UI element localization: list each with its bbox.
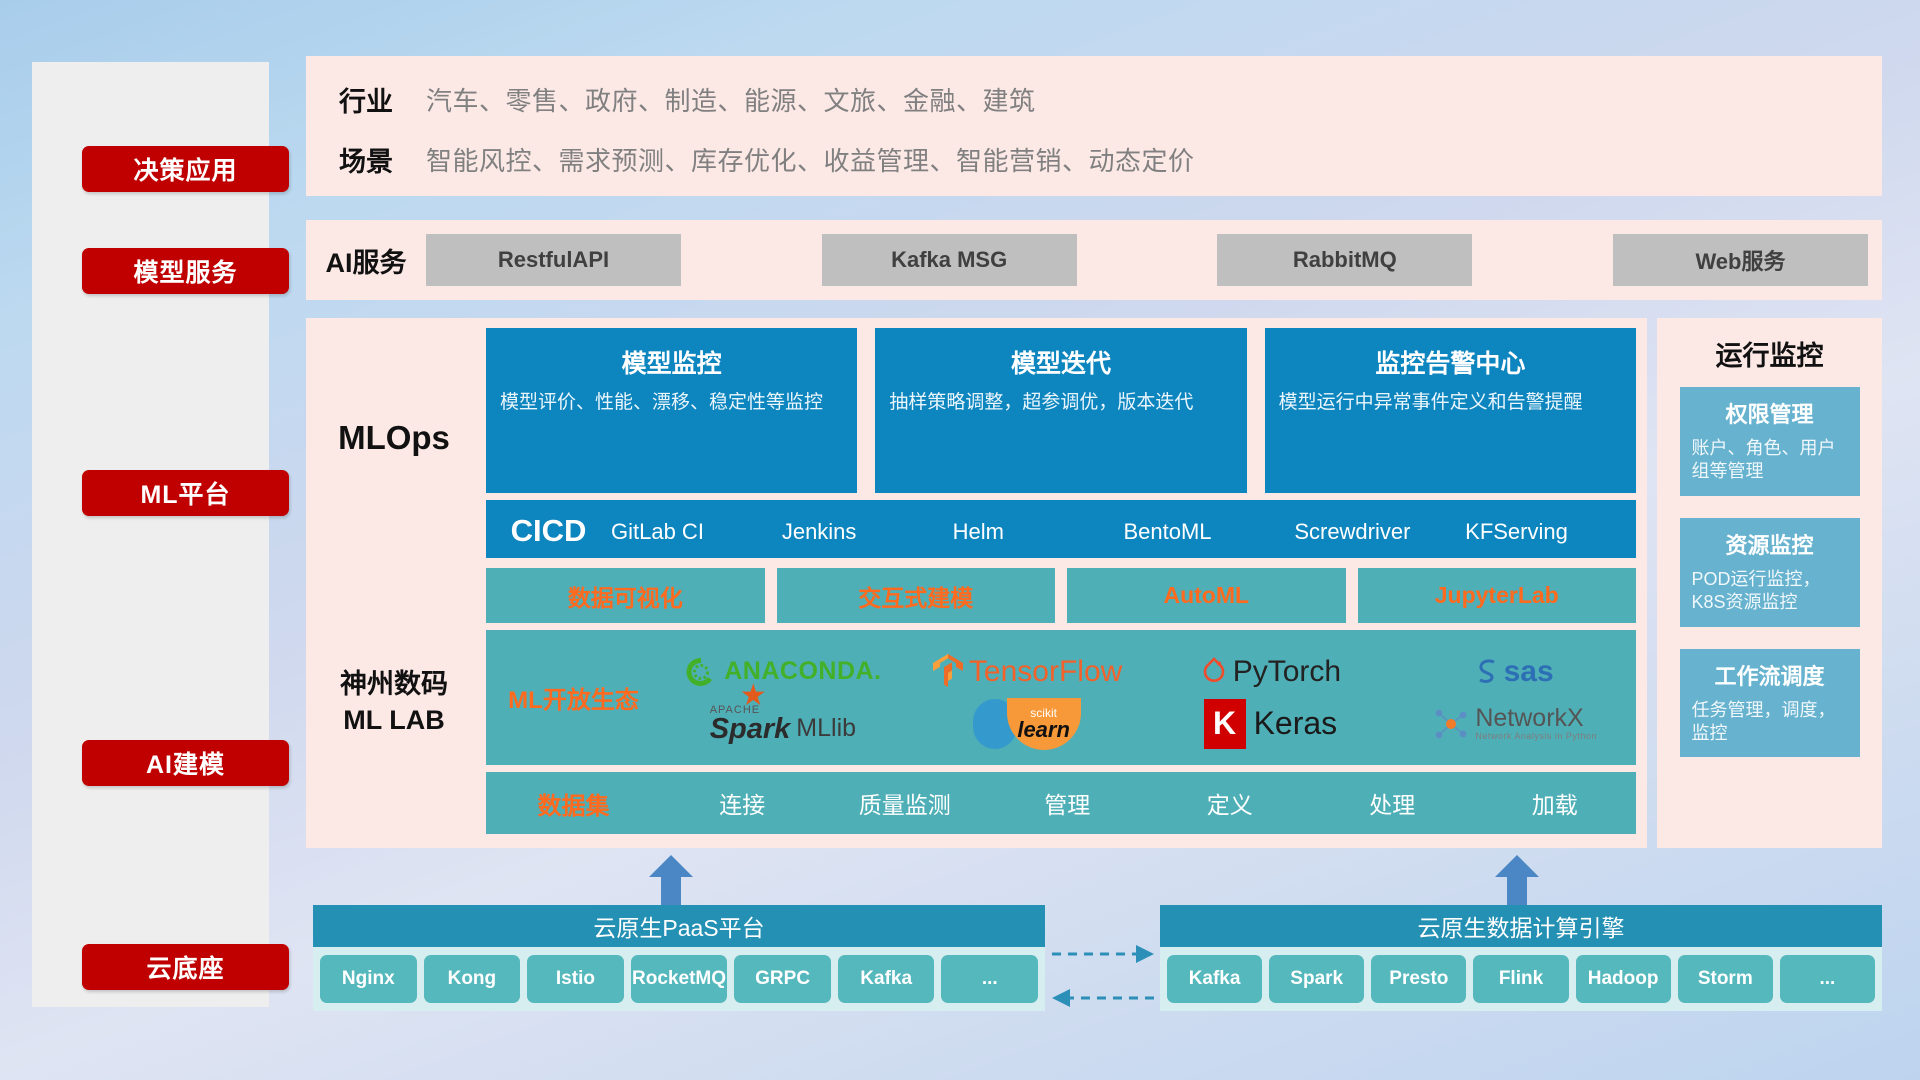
spark-star-icon: ★ — [740, 678, 767, 713]
ai-service-label: AI服务 — [306, 241, 426, 280]
dataset-item-define[interactable]: 定义 — [1149, 786, 1312, 820]
lab-tool-list: 数据可视化 交互式建模 AutoML JupyterLab — [486, 568, 1636, 623]
paas-chip-more[interactable]: ... — [941, 955, 1038, 1003]
industry-values: 汽车、零售、政府、制造、能源、文旅、金融、建筑 — [426, 81, 1036, 118]
mlops-card-list: 模型监控 模型评价、性能、漂移、稳定性等监控 模型迭代 抽样策略调整，超参调优，… — [486, 328, 1636, 493]
card-desc: 账户、角色、用户组等管理 — [1692, 437, 1848, 484]
monitoring-card-workflow[interactable]: 工作流调度 任务管理，调度，监控 — [1680, 649, 1860, 758]
paas-chip-nginx[interactable]: Nginx — [320, 955, 417, 1003]
lab-tool-data-visualization[interactable]: 数据可视化 — [486, 568, 765, 623]
architecture-diagram: 决策应用 模型服务 ML平台 AI建模 云底座 行业 汽车、零售、政府、制造、能… — [0, 0, 1920, 1080]
networkx-tagline: Network Analysis in Python — [1475, 731, 1597, 741]
data-chip-kafka[interactable]: Kafka — [1167, 955, 1262, 1003]
card-desc: 任务管理，调度，监控 — [1692, 699, 1848, 746]
runtime-monitoring-title: 运行监控 — [1657, 318, 1882, 387]
data-engine-stack-title: 云原生数据计算引擎 — [1160, 905, 1882, 947]
ml-lab-label-line2: ML LAB — [343, 703, 445, 739]
dataset-bar: 数据集 连接 质量监测 管理 定义 处理 加载 — [486, 772, 1636, 834]
data-chip-spark[interactable]: Spark — [1269, 955, 1364, 1003]
paas-stack: 云原生PaaS平台 Nginx Kong Istio RocketMQ GRPC… — [313, 905, 1045, 1011]
service-chip-rabbitmq[interactable]: RabbitMQ — [1217, 234, 1472, 286]
paas-chip-kafka[interactable]: Kafka — [838, 955, 935, 1003]
service-chip-restfulapi[interactable]: RestfulAPI — [426, 234, 681, 286]
cicd-item-kfserving[interactable]: KFServing — [1465, 517, 1636, 544]
rail-item-decision-apps[interactable]: 决策应用 — [82, 146, 289, 192]
card-title: 监控告警中心 — [1279, 344, 1622, 380]
cicd-item-bentoml[interactable]: BentoML — [1123, 517, 1294, 544]
dataset-item-manage[interactable]: 管理 — [986, 786, 1149, 820]
pytorch-logo: PyTorch — [1200, 655, 1341, 689]
cicd-item-list: GitLab CI Jenkins Helm BentoML Screwdriv… — [611, 517, 1636, 544]
data-chip-storm[interactable]: Storm — [1678, 955, 1773, 1003]
left-rail: 决策应用 模型服务 ML平台 AI建模 云底座 — [32, 62, 269, 1007]
paas-chip-rocketmq[interactable]: RocketMQ — [631, 955, 728, 1003]
rail-item-model-service[interactable]: 模型服务 — [82, 248, 289, 294]
service-chip-kafka-msg[interactable]: Kafka MSG — [822, 234, 1077, 286]
ml-open-ecosystem: ML开放生态 ANACONDA. TensorFlow PyTorch — [486, 630, 1636, 765]
cicd-bar: CICD GitLab CI Jenkins Helm BentoML Scre… — [486, 500, 1636, 562]
card-desc: 模型评价、性能、漂移、稳定性等监控 — [500, 390, 843, 415]
ai-service-chip-list: RestfulAPI Kafka MSG RabbitMQ Web服务 — [426, 234, 1882, 286]
card-title: 权限管理 — [1692, 397, 1848, 429]
data-chip-flink[interactable]: Flink — [1473, 955, 1568, 1003]
industry-label: 行业 — [306, 80, 426, 119]
service-chip-web[interactable]: Web服务 — [1613, 234, 1868, 286]
sas-logo: sas — [1475, 655, 1554, 689]
cicd-item-screwdriver[interactable]: Screwdriver — [1294, 517, 1465, 544]
decision-apps-panel: 行业 汽车、零售、政府、制造、能源、文旅、金融、建筑 场景 智能风控、需求预测、… — [306, 56, 1882, 196]
keras-wordmark: Keras — [1254, 705, 1338, 742]
anaconda-logo: ANACONDA. — [684, 655, 881, 689]
keras-mark-icon: K — [1204, 699, 1246, 749]
scenario-values: 智能风控、需求预测、库存优化、收益管理、智能营销、动态定价 — [426, 141, 1195, 178]
mlops-card-model-monitoring[interactable]: 模型监控 模型评价、性能、漂移、稳定性等监控 — [486, 328, 857, 493]
cicd-item-gitlab-ci[interactable]: GitLab CI — [611, 517, 782, 544]
keras-logo: K Keras — [1204, 699, 1338, 749]
rail-item-label: 决策应用 — [133, 151, 237, 187]
card-title: 模型迭代 — [889, 344, 1232, 380]
rail-item-ai-modeling[interactable]: AI建模 — [82, 740, 289, 786]
paas-chip-grpc[interactable]: GRPC — [734, 955, 831, 1003]
data-engine-chip-list: Kafka Spark Presto Flink Hadoop Storm ..… — [1160, 947, 1882, 1011]
rail-item-label: 云底座 — [146, 949, 224, 985]
cicd-item-jenkins[interactable]: Jenkins — [782, 517, 953, 544]
dataset-item-quality-monitor[interactable]: 质量监测 — [824, 786, 987, 820]
monitoring-card-permissions[interactable]: 权限管理 账户、角色、用户组等管理 — [1680, 387, 1860, 496]
industry-row: 行业 汽车、零售、政府、制造、能源、文旅、金融、建筑 — [306, 74, 1882, 124]
cicd-title: CICD — [486, 513, 611, 549]
card-desc: 模型运行中异常事件定义和告警提醒 — [1279, 390, 1622, 415]
ai-service-panel: AI服务 RestfulAPI Kafka MSG RabbitMQ Web服务 — [306, 220, 1882, 300]
tensorflow-wordmark: TensorFlow — [969, 655, 1122, 689]
data-engine-up-arrow-icon — [1494, 855, 1540, 901]
rail-item-ml-platform[interactable]: ML平台 — [82, 470, 289, 516]
mlops-card-model-iteration[interactable]: 模型迭代 抽样策略调整，超参调优，版本迭代 — [875, 328, 1246, 493]
rail-item-label: 模型服务 — [133, 253, 237, 289]
data-chip-presto[interactable]: Presto — [1371, 955, 1466, 1003]
networkx-logo: NetworkX Network Analysis in Python — [1431, 705, 1597, 743]
scenario-label: 场景 — [306, 140, 426, 179]
scenario-row: 场景 智能风控、需求预测、库存优化、收益管理、智能营销、动态定价 — [306, 134, 1882, 184]
dataset-item-process[interactable]: 处理 — [1311, 786, 1474, 820]
mllib-wordmark: MLlib — [796, 714, 856, 743]
dataset-item-list: 连接 质量监测 管理 定义 处理 加载 — [661, 786, 1636, 820]
bidirectional-link-arrows — [1048, 940, 1158, 1020]
rail-item-label: ML平台 — [140, 475, 230, 511]
cicd-item-helm[interactable]: Helm — [953, 517, 1124, 544]
ml-lab-label: 神州数码 ML LAB — [306, 558, 482, 848]
sas-wordmark: sas — [1504, 655, 1554, 689]
card-title: 工作流调度 — [1692, 659, 1848, 691]
ml-lab-panel: 神州数码 ML LAB 数据可视化 交互式建模 AutoML JupyterLa… — [306, 558, 1647, 848]
monitoring-card-resources[interactable]: 资源监控 POD运行监控，K8S资源监控 — [1680, 518, 1860, 627]
paas-chip-list: Nginx Kong Istio RocketMQ GRPC Kafka ... — [313, 947, 1045, 1011]
mlops-panel: MLOps 模型监控 模型评价、性能、漂移、稳定性等监控 模型迭代 抽样策略调整… — [306, 318, 1647, 558]
ml-lab-label-line1: 神州数码 — [340, 667, 448, 703]
ecosystem-logo-grid: ANACONDA. TensorFlow PyTorch sas — [661, 646, 1636, 750]
lab-tool-jupyterlab[interactable]: JupyterLab — [1358, 568, 1637, 623]
data-chip-more[interactable]: ... — [1780, 955, 1875, 1003]
card-title: 资源监控 — [1692, 528, 1848, 560]
runtime-monitoring-panel: 运行监控 权限管理 账户、角色、用户组等管理 资源监控 POD运行监控，K8S资… — [1657, 318, 1882, 848]
dataset-title: 数据集 — [486, 786, 661, 821]
networkx-wordmark: NetworkX — [1475, 706, 1597, 731]
paas-up-arrow-icon — [648, 855, 694, 901]
learn-wordmark: learn — [1017, 719, 1070, 741]
spark-mllib-logo: ★ APACHE Spark MLlib — [710, 704, 856, 742]
pytorch-wordmark: PyTorch — [1233, 655, 1341, 689]
scikit-learn-logo: scikit learn — [973, 698, 1081, 750]
card-desc: POD运行监控，K8S资源监控 — [1692, 568, 1848, 615]
paas-chip-kong[interactable]: Kong — [424, 955, 521, 1003]
mlops-label: MLOps — [306, 318, 482, 558]
spark-wordmark: Spark — [710, 716, 791, 742]
card-desc: 抽样策略调整，超参调优，版本迭代 — [889, 390, 1232, 415]
dataset-item-connect[interactable]: 连接 — [661, 786, 824, 820]
rail-item-cloud-base[interactable]: 云底座 — [82, 944, 289, 990]
card-title: 模型监控 — [500, 344, 843, 380]
tensorflow-logo: TensorFlow — [931, 653, 1122, 691]
ml-open-ecosystem-title: ML开放生态 — [486, 680, 661, 715]
mlops-card-alert-center[interactable]: 监控告警中心 模型运行中异常事件定义和告警提醒 — [1265, 328, 1636, 493]
dataset-item-load[interactable]: 加载 — [1474, 786, 1637, 820]
rail-item-label: AI建模 — [146, 745, 225, 781]
lab-tool-automl[interactable]: AutoML — [1067, 568, 1346, 623]
paas-chip-istio[interactable]: Istio — [527, 955, 624, 1003]
data-engine-stack: 云原生数据计算引擎 Kafka Spark Presto Flink Hadoo… — [1160, 905, 1882, 1011]
data-chip-hadoop[interactable]: Hadoop — [1576, 955, 1671, 1003]
paas-stack-title: 云原生PaaS平台 — [313, 905, 1045, 947]
lab-tool-interactive-modeling[interactable]: 交互式建模 — [777, 568, 1056, 623]
